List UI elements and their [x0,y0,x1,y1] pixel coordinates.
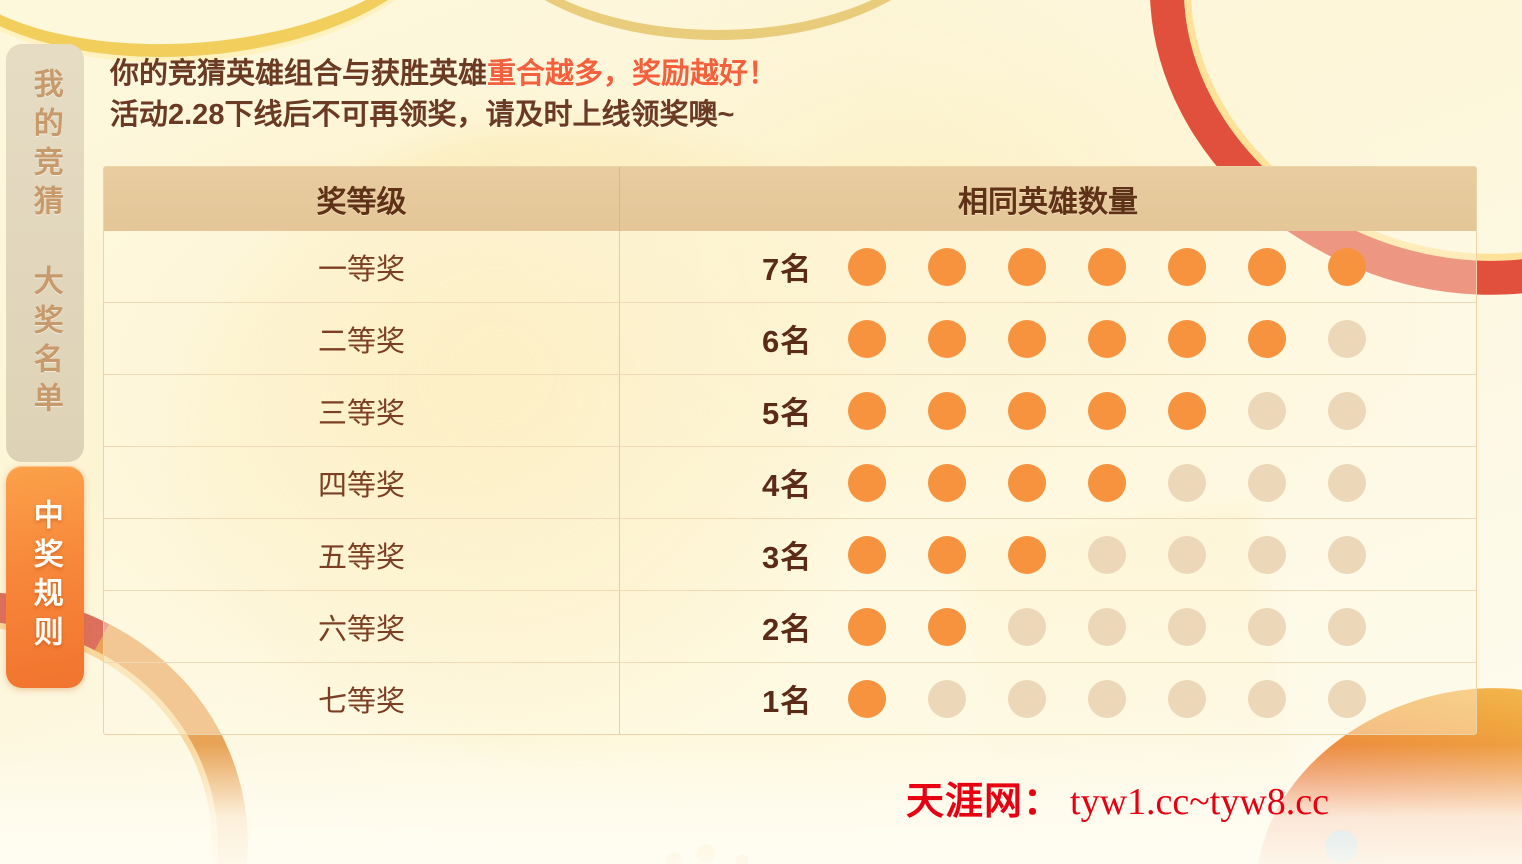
dot-empty-icon [1328,536,1366,574]
dot-filled-icon [928,464,966,502]
dot-filled-icon [848,248,886,286]
hero-count-label: 3名 [762,532,840,577]
table-header-hero-count: 相同英雄数量 [620,167,1476,231]
dot-filled-icon [928,248,966,286]
cell-hero-count: 6名 [620,303,1476,374]
sidebar-tab-winner-list-label: 大奖名单 [27,265,62,421]
dot-filled-icon [1248,320,1286,358]
table-row: 一等奖7名 [104,231,1476,302]
hero-count-label: 4名 [762,460,840,505]
hero-count-dots [848,608,1366,646]
cell-hero-count: 2名 [620,591,1476,662]
dot-filled-icon [1168,392,1206,430]
dot-filled-icon [1088,392,1126,430]
cell-hero-count: 3名 [620,519,1476,590]
hero-count-label: 6名 [762,316,840,361]
dot-empty-icon [1328,680,1366,718]
headline-plain-text: 你的竞猜英雄组合与获胜英雄 [110,58,487,90]
hero-count-label: 2名 [762,604,840,649]
hero-count-dots [848,392,1366,430]
cell-hero-count: 7名 [620,231,1476,302]
dot-filled-icon [848,464,886,502]
cell-prize-level: 五等奖 [104,519,620,590]
dot-filled-icon [1088,248,1126,286]
dot-filled-icon [1008,392,1046,430]
cell-hero-count: 5名 [620,375,1476,446]
headline-accent-text: 重合越多，奖励越好！ [487,58,777,90]
hero-count-dots [848,536,1366,574]
table-row: 七等奖1名 [104,662,1476,734]
dot-empty-icon [1088,680,1126,718]
table-row: 四等奖4名 [104,446,1476,518]
table-body: 一等奖7名二等奖6名三等奖5名四等奖4名五等奖3名六等奖2名七等奖1名 [104,231,1476,734]
dot-filled-icon [928,536,966,574]
cell-hero-count: 1名 [620,663,1476,734]
sidebar-tab-my-guess-label: 我的竞猜 [27,68,62,224]
dot-filled-icon [928,608,966,646]
dot-empty-icon [928,680,966,718]
dot-filled-icon [848,392,886,430]
dot-filled-icon [1248,248,1286,286]
cell-prize-level: 四等奖 [104,447,620,518]
dot-filled-icon [1008,536,1046,574]
prize-rules-table: 奖等级 相同英雄数量 一等奖7名二等奖6名三等奖5名四等奖4名五等奖3名六等奖2… [103,166,1477,735]
dot-filled-icon [1168,248,1206,286]
watermark: 天涯网： tyw1.cc~tyw8.cc [906,770,1329,825]
table-row: 二等奖6名 [104,302,1476,374]
dot-empty-icon [1248,680,1286,718]
decor-bottom-gold-dots [660,844,870,864]
dot-filled-icon [1008,464,1046,502]
sidebar-tab-prize-rules-label: 中奖规则 [27,499,62,655]
dot-filled-icon [928,392,966,430]
cell-hero-count: 4名 [620,447,1476,518]
table-header-prize-level: 奖等级 [104,167,620,231]
page-headline: 你的竞猜英雄组合与获胜英雄重合越多，奖励越好！ 活动2.28下线后不可再领奖，请… [110,54,1110,136]
cell-prize-level: 七等奖 [104,663,620,734]
headline-line-1: 你的竞猜英雄组合与获胜英雄重合越多，奖励越好！ [110,54,1110,95]
dot-filled-icon [848,536,886,574]
hero-count-label: 5名 [762,388,840,433]
hero-count-label: 1名 [762,676,840,721]
dot-empty-icon [1168,680,1206,718]
headline-line-2: 活动2.28下线后不可再领奖，请及时上线领奖噢~ [110,95,1110,136]
dot-filled-icon [1008,320,1046,358]
dot-filled-icon [1168,320,1206,358]
dot-filled-icon [928,320,966,358]
hero-count-dots [848,248,1366,286]
sidebar-tab-prize-rules[interactable]: 中奖规则 [6,466,84,688]
cell-prize-level: 六等奖 [104,591,620,662]
sidebar-tab-my-guess[interactable]: 我的竞猜 [6,44,84,248]
dot-empty-icon [1328,464,1366,502]
dot-empty-icon [1328,320,1366,358]
dot-filled-icon [848,680,886,718]
dot-empty-icon [1168,536,1206,574]
dot-empty-icon [1248,464,1286,502]
cell-prize-level: 三等奖 [104,375,620,446]
table-row: 三等奖5名 [104,374,1476,446]
dot-filled-icon [1328,248,1366,286]
dot-empty-icon [1088,608,1126,646]
sidebar-tabs: 我的竞猜 大奖名单 中奖规则 [6,44,84,688]
hero-count-dots [848,464,1366,502]
dot-filled-icon [1008,248,1046,286]
dot-empty-icon [1248,536,1286,574]
watermark-site-name: 天涯网： [906,770,1062,825]
hero-count-dots [848,680,1366,718]
dot-filled-icon [1088,320,1126,358]
dot-empty-icon [1088,536,1126,574]
dot-empty-icon [1168,608,1206,646]
cell-prize-level: 二等奖 [104,303,620,374]
promo-page: 我的竞猜 大奖名单 中奖规则 你的竞猜英雄组合与获胜英雄重合越多，奖励越好！ 活… [0,0,1522,864]
dot-empty-icon [1008,608,1046,646]
dot-filled-icon [848,608,886,646]
dot-empty-icon [1008,680,1046,718]
table-row: 五等奖3名 [104,518,1476,590]
dot-empty-icon [1248,608,1286,646]
dot-filled-icon [848,320,886,358]
cell-prize-level: 一等奖 [104,231,620,302]
table-header-row: 奖等级 相同英雄数量 [104,167,1476,231]
dot-empty-icon [1248,392,1286,430]
dot-empty-icon [1168,464,1206,502]
dot-empty-icon [1328,608,1366,646]
hero-count-label: 7名 [762,244,840,289]
dot-filled-icon [1088,464,1126,502]
hero-count-dots [848,320,1366,358]
watermark-url: tyw1.cc~tyw8.cc [1070,780,1329,824]
sidebar-tab-winner-list[interactable]: 大奖名单 [6,232,84,462]
dot-empty-icon [1328,392,1366,430]
table-row: 六等奖2名 [104,590,1476,662]
